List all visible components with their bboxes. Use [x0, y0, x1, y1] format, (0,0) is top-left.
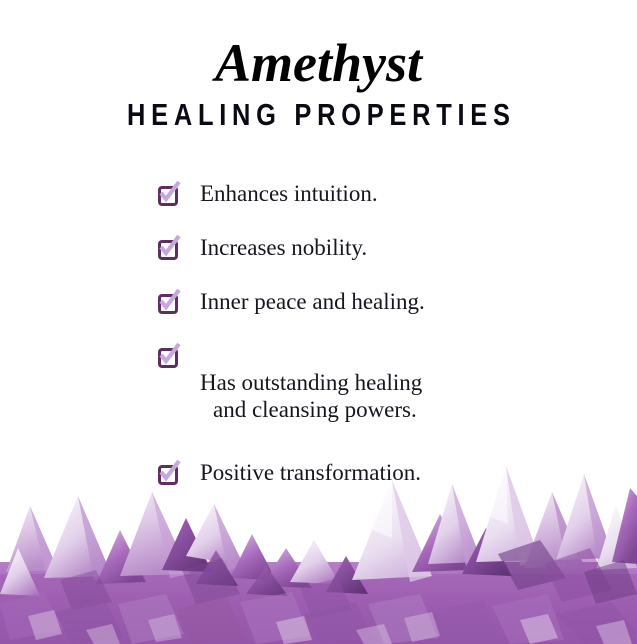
checked-checkbox-icon [158, 186, 178, 206]
list-item-label-continued: and cleansing powers. [200, 396, 422, 423]
list-item: Has outstanding healing and cleansing po… [158, 342, 578, 450]
healing-properties-list: Enhances intuition. Increases nobility. [158, 180, 578, 486]
page-title: Amethyst [0, 34, 637, 92]
list-item-label: Has outstanding healing [200, 370, 422, 395]
amethyst-healing-properties-poster: Amethyst HEALING PROPERTIES Enhances int… [0, 0, 637, 644]
list-item-label: Increases nobility. [200, 234, 367, 261]
page-subtitle: HEALING PROPERTIES [57, 98, 579, 132]
list-item: Enhances intuition. [158, 180, 578, 207]
checkmark-icon [159, 345, 181, 367]
checked-checkbox-icon [158, 348, 178, 368]
amethyst-crystal-cluster-image [0, 444, 637, 644]
checked-checkbox-icon [158, 294, 178, 314]
list-item-label: Enhances intuition. [200, 180, 378, 207]
list-item: Inner peace and healing. [158, 288, 578, 315]
checked-checkbox-icon [158, 240, 178, 260]
list-item-label: Inner peace and healing. [200, 288, 425, 315]
checkmark-icon [159, 291, 181, 313]
list-item: Increases nobility. [158, 234, 578, 261]
checkmark-icon [159, 237, 181, 259]
poster-header: Amethyst HEALING PROPERTIES [0, 34, 637, 132]
list-item-label-group: Has outstanding healing and cleansing po… [200, 342, 422, 450]
checkmark-icon [159, 183, 181, 205]
